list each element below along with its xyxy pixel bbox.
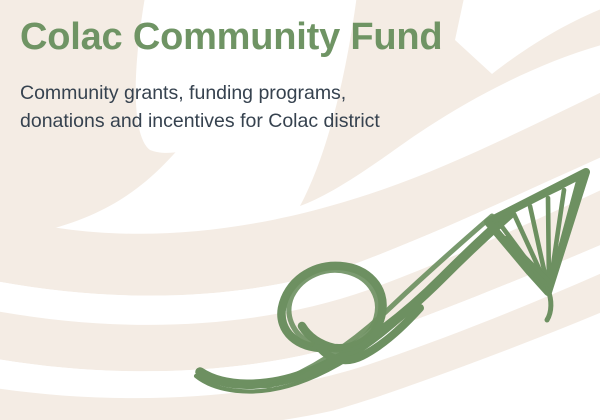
- colac-community-fund-banner: Colac Community Fund Community grants, f…: [0, 0, 600, 420]
- arrowhead-hatch-4: [548, 198, 549, 288]
- banner-text-block: Colac Community Fund Community grants, f…: [20, 14, 560, 135]
- page-title: Colac Community Fund: [20, 14, 560, 60]
- page-subtitle-line-2: donations and incentives for Colac distr…: [20, 107, 560, 135]
- page-subtitle: Community grants, funding programs, dona…: [20, 60, 560, 135]
- arrowhead-bottom-spur: [547, 290, 551, 320]
- page-subtitle-line-1: Community grants, funding programs,: [20, 79, 560, 107]
- arrow-loop-second-pass: [289, 270, 378, 348]
